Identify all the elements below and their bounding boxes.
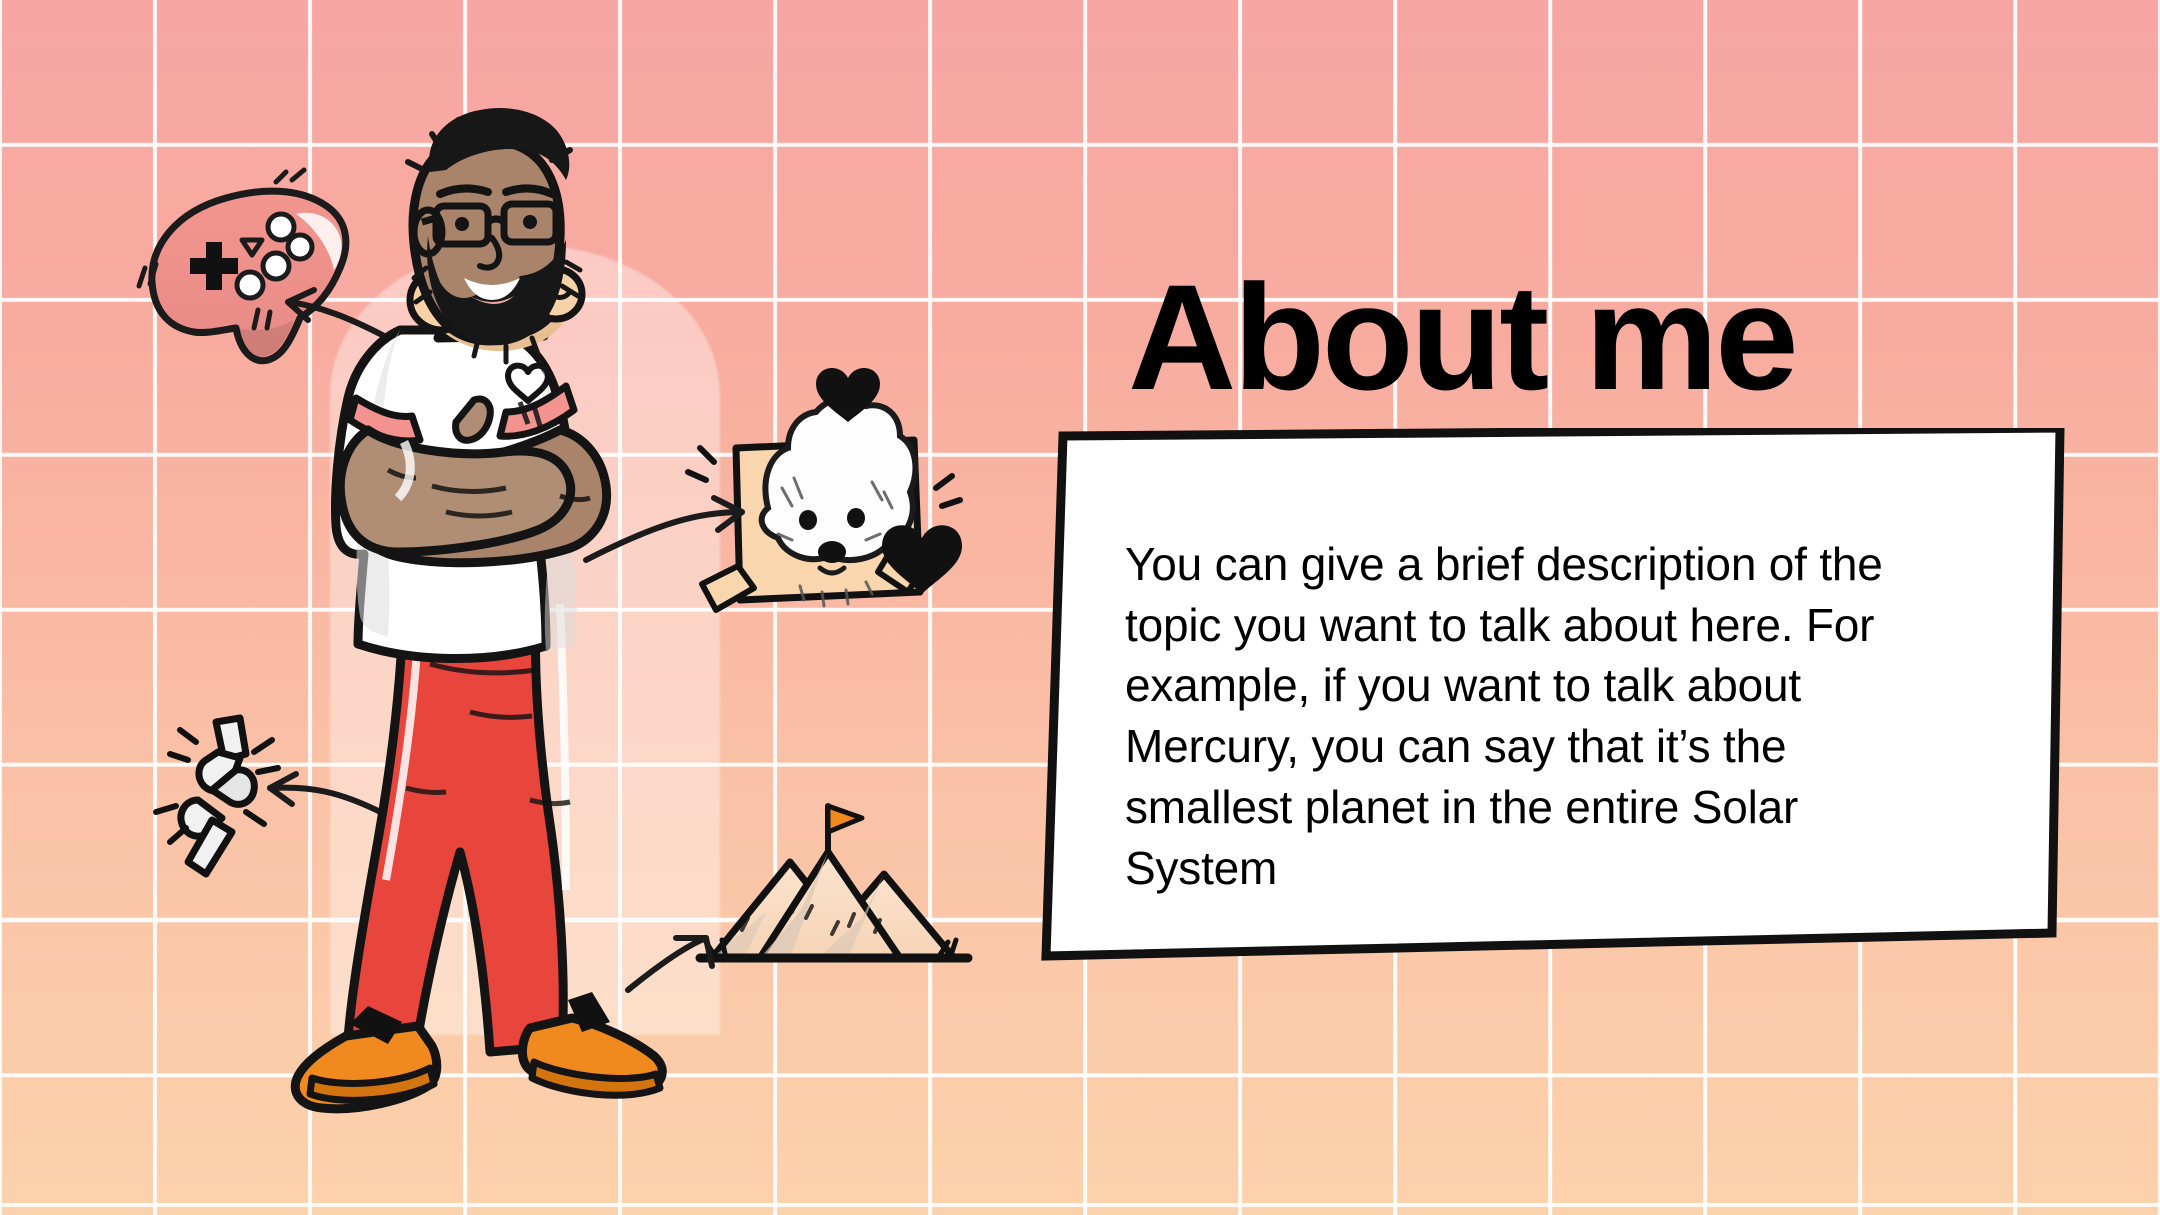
arrow-to-bone	[270, 774, 392, 818]
gamepad-icon	[139, 170, 346, 361]
description-text: You can give a brief description of the …	[1125, 534, 1945, 898]
page-title: About me	[1128, 262, 1796, 412]
slide-canvas: About me You can give a brief descriptio…	[0, 0, 2160, 1215]
arrow-to-mountains	[628, 938, 712, 990]
character-illustration	[295, 108, 662, 1109]
mountains-with-flag-icon	[700, 806, 968, 958]
description-card: You can give a brief description of the …	[1040, 428, 2072, 963]
broken-bone-icon	[156, 718, 278, 874]
arrow-to-gamepad	[288, 290, 388, 338]
